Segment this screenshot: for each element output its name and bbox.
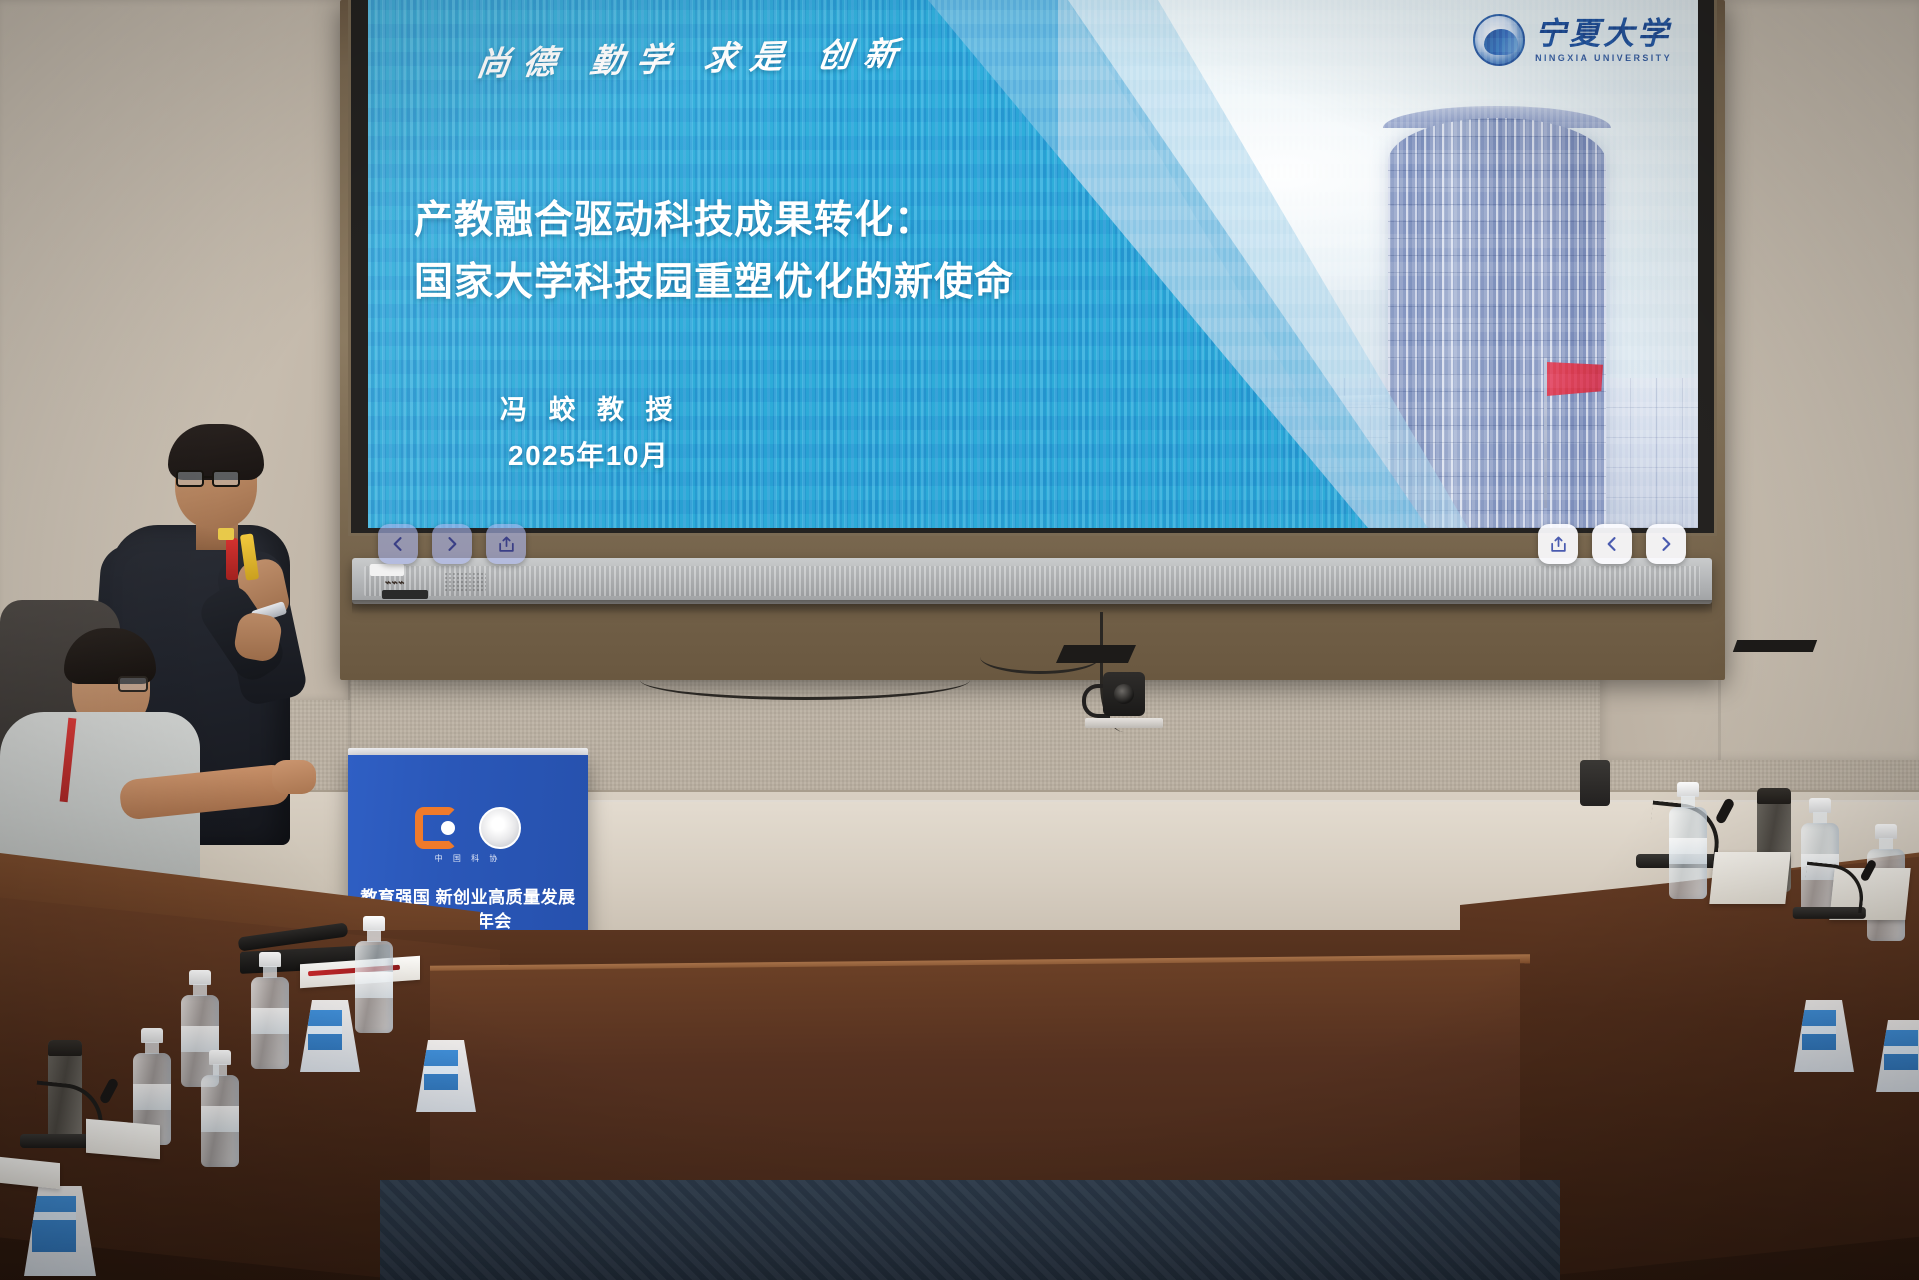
soundbar: ⌁⌁⌁ xyxy=(352,558,1712,604)
slide-date: 2025年10月 xyxy=(508,434,669,474)
soundbar-shadow xyxy=(352,600,1712,614)
flagpole xyxy=(1544,358,1547,508)
podium-logo-subtext: 中 国 科 协 xyxy=(348,853,588,864)
tent-card-band xyxy=(32,1196,76,1252)
soundbar-badge xyxy=(370,564,404,576)
water-bottle xyxy=(196,1050,244,1190)
next-slide-button-left[interactable] xyxy=(432,524,472,564)
tent-card-stripe xyxy=(32,1212,76,1220)
screen-nav-right-group xyxy=(1538,524,1686,564)
chinese-flag xyxy=(1547,362,1603,396)
carpet xyxy=(380,1180,1560,1280)
handheld-microphone xyxy=(226,538,238,580)
podium-logo-row xyxy=(348,807,588,849)
water-bottle xyxy=(1668,782,1708,902)
share-button-left[interactable] xyxy=(486,524,526,564)
conference-camera-base xyxy=(1085,718,1163,728)
university-name-cn: 宁夏大学 xyxy=(1535,18,1672,49)
bottle-label xyxy=(251,1008,289,1034)
bottle-label xyxy=(355,972,393,998)
attendee-glasses xyxy=(118,676,148,692)
tent-card-stripe xyxy=(1884,1046,1918,1054)
table-microphone xyxy=(1793,861,1870,919)
bottle-cap xyxy=(259,952,281,967)
attendee-hand xyxy=(272,760,316,794)
presenter-glasses-left xyxy=(176,470,204,487)
presenter-badge xyxy=(218,528,234,540)
floor-speaker xyxy=(1580,760,1610,806)
tent-card-stripe xyxy=(424,1066,458,1074)
presenter-glasses-right xyxy=(212,470,240,487)
tent-card-stripe xyxy=(308,1026,342,1034)
water-bottle xyxy=(248,952,292,1084)
slide-university-logo: 宁夏大学 NINGXIA UNIVERSITY xyxy=(1473,14,1672,66)
wall-bracket xyxy=(1733,640,1817,652)
next-slide-button-right[interactable] xyxy=(1646,524,1686,564)
conference-room-photo: 尚德 勤学 求是 创新 产教融合驱动科技成果转化： 国家大学科技园重塑优化的新使… xyxy=(0,0,1919,1280)
slide-title-line-1: 产教融合驱动科技成果转化： xyxy=(414,190,1074,252)
soundbar-ir-window xyxy=(382,590,428,599)
soundbar-grille xyxy=(364,566,1700,596)
share-button-right[interactable] xyxy=(1538,524,1578,564)
soundbar-mesh xyxy=(444,572,486,592)
bottle-cap xyxy=(363,916,385,931)
prev-slide-button-right[interactable] xyxy=(1592,524,1632,564)
bottle-cap xyxy=(189,970,211,985)
bottle-label xyxy=(201,1106,239,1132)
university-seal-icon xyxy=(1473,14,1525,66)
screen-nav-left-group xyxy=(378,524,526,564)
thermos-lid xyxy=(1757,788,1791,804)
presentation-slide[interactable]: 尚德 勤学 求是 创新 产教融合驱动科技成果转化： 国家大学科技园重塑优化的新使… xyxy=(368,0,1698,528)
prev-slide-button-left[interactable] xyxy=(378,524,418,564)
presenter-glasses-bridge xyxy=(204,476,214,478)
water-bottle xyxy=(352,916,396,1048)
bottle-cap xyxy=(141,1028,163,1043)
slide-title-line-2: 国家大学科技园重塑优化的新使命 xyxy=(414,252,1074,314)
wall-bracket xyxy=(1056,645,1136,663)
table-nameplate xyxy=(1709,852,1790,904)
university-seal-logo-icon xyxy=(479,807,521,849)
university-logo-text: 宁夏大学 NINGXIA UNIVERSITY xyxy=(1535,18,1672,63)
bottle-cap xyxy=(209,1050,231,1065)
floor-cable xyxy=(640,660,970,700)
slide-title: 产教融合驱动科技成果转化： 国家大学科技园重塑优化的新使命 xyxy=(414,190,1074,313)
c-mark-logo-icon xyxy=(415,807,457,849)
bottle-cap xyxy=(1809,798,1831,813)
bottle-cap xyxy=(1677,782,1699,797)
microphone-gooseneck xyxy=(1802,862,1866,914)
conference-camera-lens-icon xyxy=(1114,684,1134,704)
slide-presenter-name: 冯 蛟 教 授 xyxy=(500,388,680,427)
bottle-cap xyxy=(1875,824,1897,839)
thermos-lid xyxy=(48,1040,82,1056)
tent-card-stripe xyxy=(1802,1026,1836,1034)
carpet-pattern xyxy=(380,1180,1560,1280)
bottle-label xyxy=(181,1026,219,1052)
bottle-label xyxy=(1669,838,1707,864)
document-paper xyxy=(86,1119,160,1159)
soundbar-brand-mark: ⌁⌁⌁ xyxy=(384,576,404,589)
bottle-label xyxy=(133,1084,171,1110)
university-name-en: NINGXIA UNIVERSITY xyxy=(1535,53,1672,63)
